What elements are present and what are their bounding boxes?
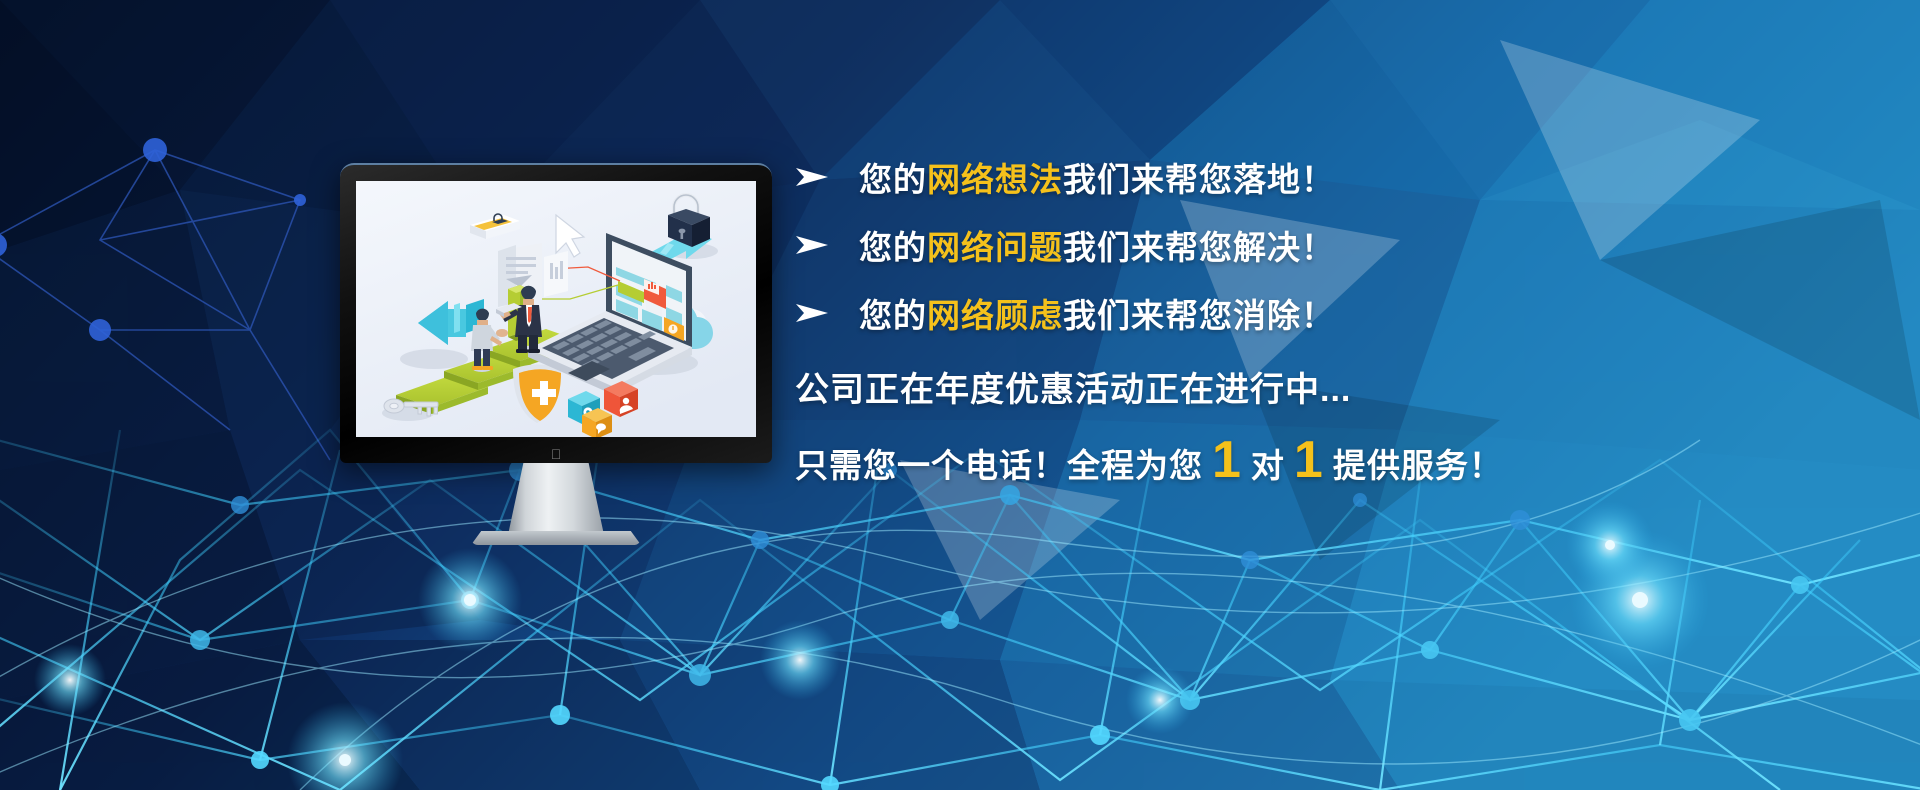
monitor-screen — [356, 181, 756, 437]
imac-display:  — [340, 163, 772, 483]
bullet-prefix-1: 您的 — [859, 161, 927, 198]
cta-part-2: 提供服务！ — [1333, 439, 1503, 487]
bullet-text-2: 您的网络问题我们来帮您解决！ — [859, 221, 1335, 269]
cta-middle: 对 — [1251, 439, 1285, 487]
bullet-line-1: 您的网络想法我们来帮您落地！ — [795, 158, 1795, 196]
call-to-action-line: 只需您一个电话！全程为您 1 对 1 提供服务！ — [795, 439, 1795, 487]
cta-part-1: 只需您一个电话！全程为您 — [795, 439, 1203, 487]
bullet-line-2: 您的网络问题我们来帮您解决！ — [795, 226, 1795, 264]
bullet-suffix-1: 我们来帮您落地！ — [1063, 161, 1335, 198]
bullet-suffix-3: 我们来帮您消除！ — [1063, 297, 1335, 334]
monitor-bezel:  — [340, 163, 772, 463]
bullet-line-3: 您的网络顾虑我们来帮您消除！ — [795, 294, 1795, 332]
marketing-copy: 您的网络想法我们来帮您落地！ 您的网络问题我们来帮您解决！ 您的网络顾虑我们来帮… — [795, 158, 1795, 487]
apple-logo:  — [551, 447, 562, 461]
cta-number-2: 1 — [1285, 440, 1333, 482]
arrow-bullet-icon — [795, 235, 829, 255]
cta-number-1: 1 — [1203, 440, 1251, 482]
bullet-text-3: 您的网络顾虑我们来帮您消除！ — [859, 289, 1335, 337]
bullet-text-1: 您的网络想法我们来帮您落地！ — [859, 153, 1335, 201]
promo-banner:  您的网络想法我们来帮您落地！ 您的网络问题我们来帮您解决！ — [0, 0, 1920, 790]
monitor-stand-foot — [471, 531, 641, 545]
arrow-bullet-icon — [795, 303, 829, 323]
bullet-prefix-3: 您的 — [859, 297, 927, 334]
arrow-bullet-icon — [795, 167, 829, 187]
monitor-stand-neck — [508, 463, 604, 535]
bullet-highlight-1: 网络想法 — [927, 161, 1063, 198]
bullet-prefix-2: 您的 — [859, 229, 927, 266]
bullet-highlight-2: 网络问题 — [927, 229, 1063, 266]
bullet-suffix-2: 我们来帮您解决！ — [1063, 229, 1335, 266]
promo-line: 公司正在年度优惠活动正在进行中... — [795, 362, 1795, 411]
bullet-highlight-3: 网络顾虑 — [927, 297, 1063, 334]
